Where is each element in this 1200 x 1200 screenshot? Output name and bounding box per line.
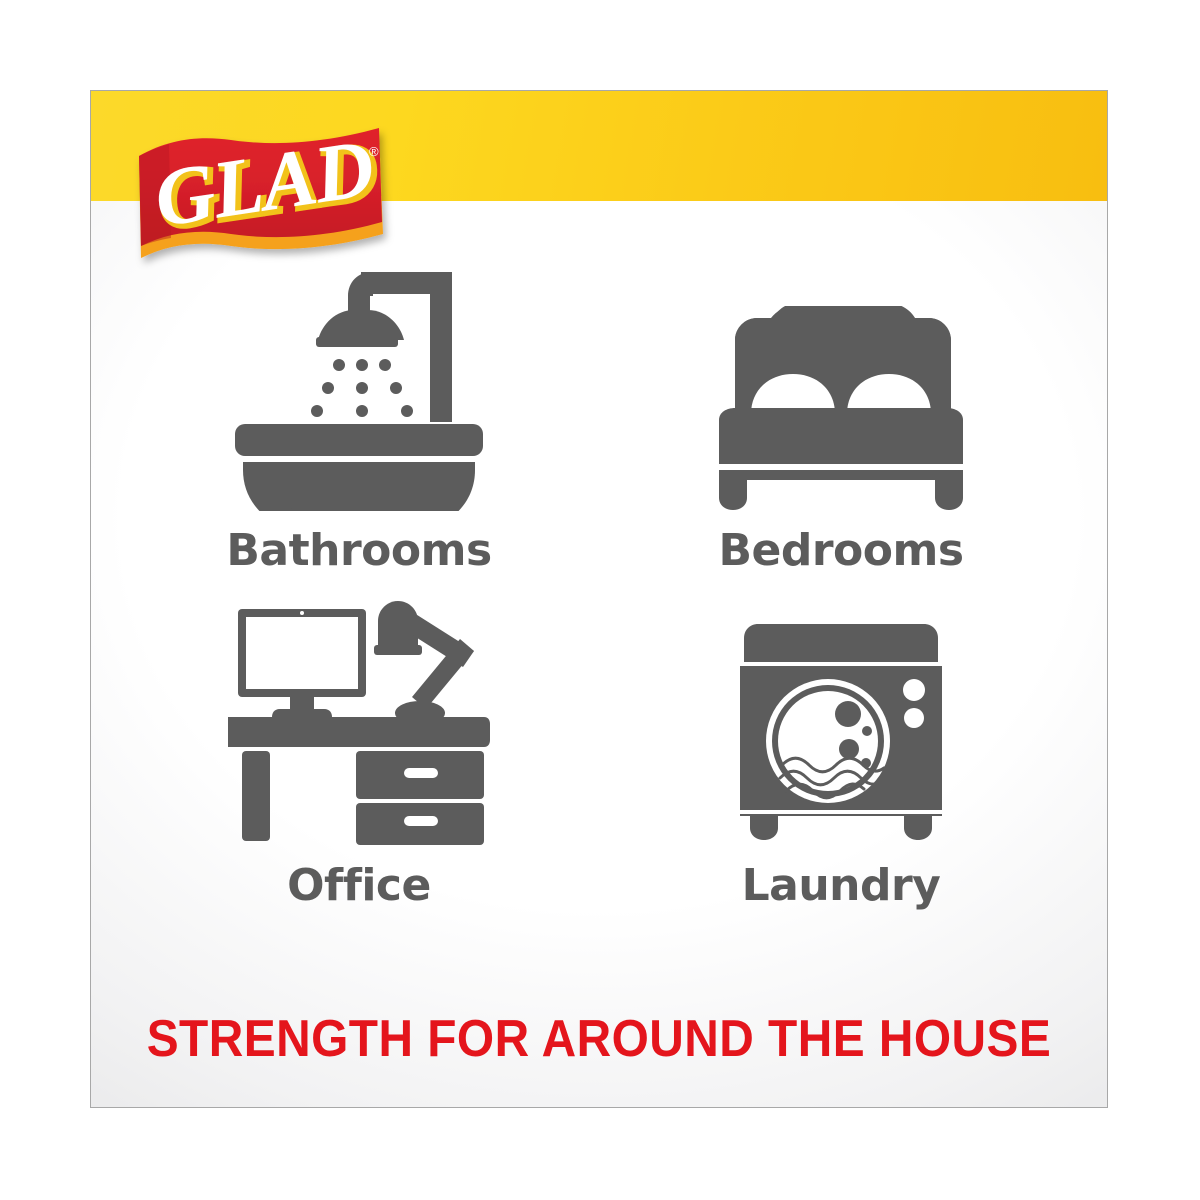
promo-graphic: GLAD GLAD ® xyxy=(0,0,1200,1200)
room-cell-office: Office xyxy=(149,596,569,908)
registered-trademark-symbol: ® xyxy=(369,144,379,159)
room-cell-laundry: Laundry xyxy=(631,596,1051,908)
room-cell-bedrooms: Bedrooms xyxy=(631,261,1051,573)
desk-computer-lamp-icon xyxy=(149,596,569,846)
bathtub-shower-icon xyxy=(149,261,569,511)
content-card: GLAD GLAD ® xyxy=(90,90,1108,1108)
room-label-office: Office xyxy=(149,864,569,908)
room-icon-grid: Bathrooms xyxy=(91,241,1107,961)
room-label-laundry: Laundry xyxy=(631,864,1051,908)
room-label-bathrooms: Bathrooms xyxy=(149,529,569,573)
room-cell-bathrooms: Bathrooms xyxy=(149,261,569,573)
room-label-bedrooms: Bedrooms xyxy=(631,529,1051,573)
tagline: STRENGTH FOR AROUND THE HOUSE xyxy=(132,1009,1067,1069)
bed-icon xyxy=(631,261,1051,511)
washing-machine-icon xyxy=(631,596,1051,846)
